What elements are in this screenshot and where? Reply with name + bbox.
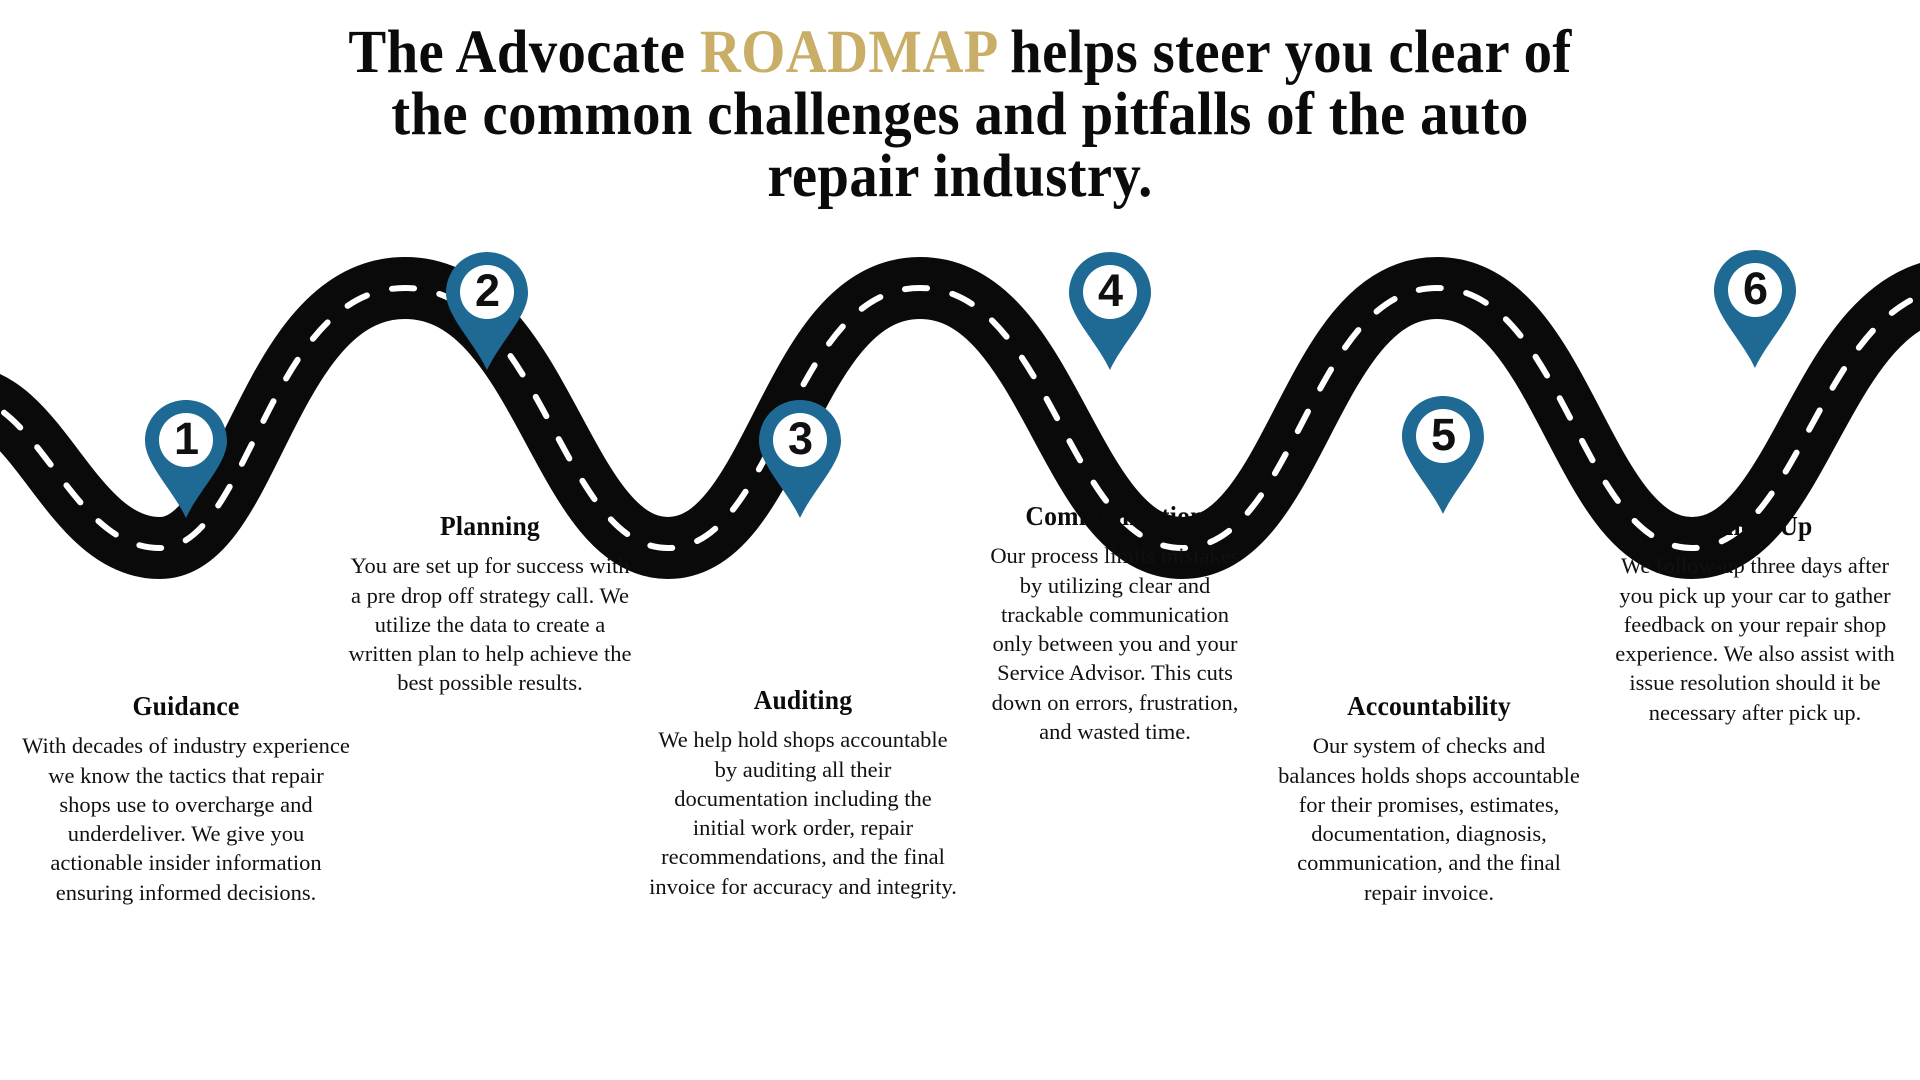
step-body: We help hold shops accountable by auditi…	[648, 725, 958, 901]
step-block-guidance: Guidance With decades of industry experi…	[20, 692, 352, 907]
step-heading: Communication	[992, 502, 1239, 530]
step-block-auditing: Auditing We help hold shops accountable …	[648, 686, 958, 901]
map-pin-2[interactable]: 2	[444, 250, 530, 372]
roadmap-infographic: The Advocate ROADMAP helps steer you cle…	[0, 0, 1920, 1080]
map-pin-number: 6	[1712, 262, 1798, 316]
map-pin-number: 4	[1067, 264, 1153, 318]
step-heading: Accountability	[1283, 692, 1576, 720]
map-pin-number: 2	[444, 264, 530, 318]
road-asphalt	[0, 288, 1920, 548]
map-pin-number: 5	[1400, 408, 1486, 462]
step-block-planning: Planning You are set up for success with…	[345, 512, 635, 698]
title-part-post: helps steer you clear of	[996, 19, 1572, 86]
step-body: With decades of industry experience we k…	[20, 731, 352, 907]
title-line-3: repair industry.	[179, 146, 1741, 208]
step-body: Our process limits mistakes by utilizing…	[985, 541, 1245, 746]
step-body: You are set up for success with a pre dr…	[345, 551, 635, 697]
title-highlight-roadmap: ROADMAP	[700, 19, 996, 86]
step-heading: Auditing	[656, 686, 951, 714]
map-pin-1[interactable]: 1	[143, 398, 229, 520]
title-line-2: the common challenges and pitfalls of th…	[179, 84, 1741, 146]
step-body: We follow-up three days after you pick u…	[1610, 551, 1900, 727]
step-heading: Follow Up	[1617, 512, 1893, 540]
step-body: Our system of checks and balances holds …	[1275, 731, 1583, 907]
step-block-accountability: Accountability Our system of checks and …	[1275, 692, 1583, 907]
step-heading: Planning	[352, 512, 628, 540]
title-line-1: The Advocate ROADMAP helps steer you cle…	[179, 22, 1741, 84]
title-part-pre: The Advocate	[348, 19, 700, 86]
page-title: The Advocate ROADMAP helps steer you cle…	[0, 22, 1920, 209]
step-heading: Guidance	[28, 692, 343, 720]
step-block-communication: Communication Our process limits mistake…	[985, 502, 1245, 746]
map-pin-4[interactable]: 4	[1067, 250, 1153, 372]
title-text: The Advocate ROADMAP helps steer you cle…	[179, 22, 1741, 209]
map-pin-5[interactable]: 5	[1400, 394, 1486, 516]
map-pin-number: 1	[143, 412, 229, 466]
step-block-follow-up: Follow Up We follow-up three days after …	[1610, 512, 1900, 727]
map-pin-number: 3	[757, 412, 843, 466]
map-pin-6[interactable]: 6	[1712, 248, 1798, 370]
map-pin-3[interactable]: 3	[757, 398, 843, 520]
